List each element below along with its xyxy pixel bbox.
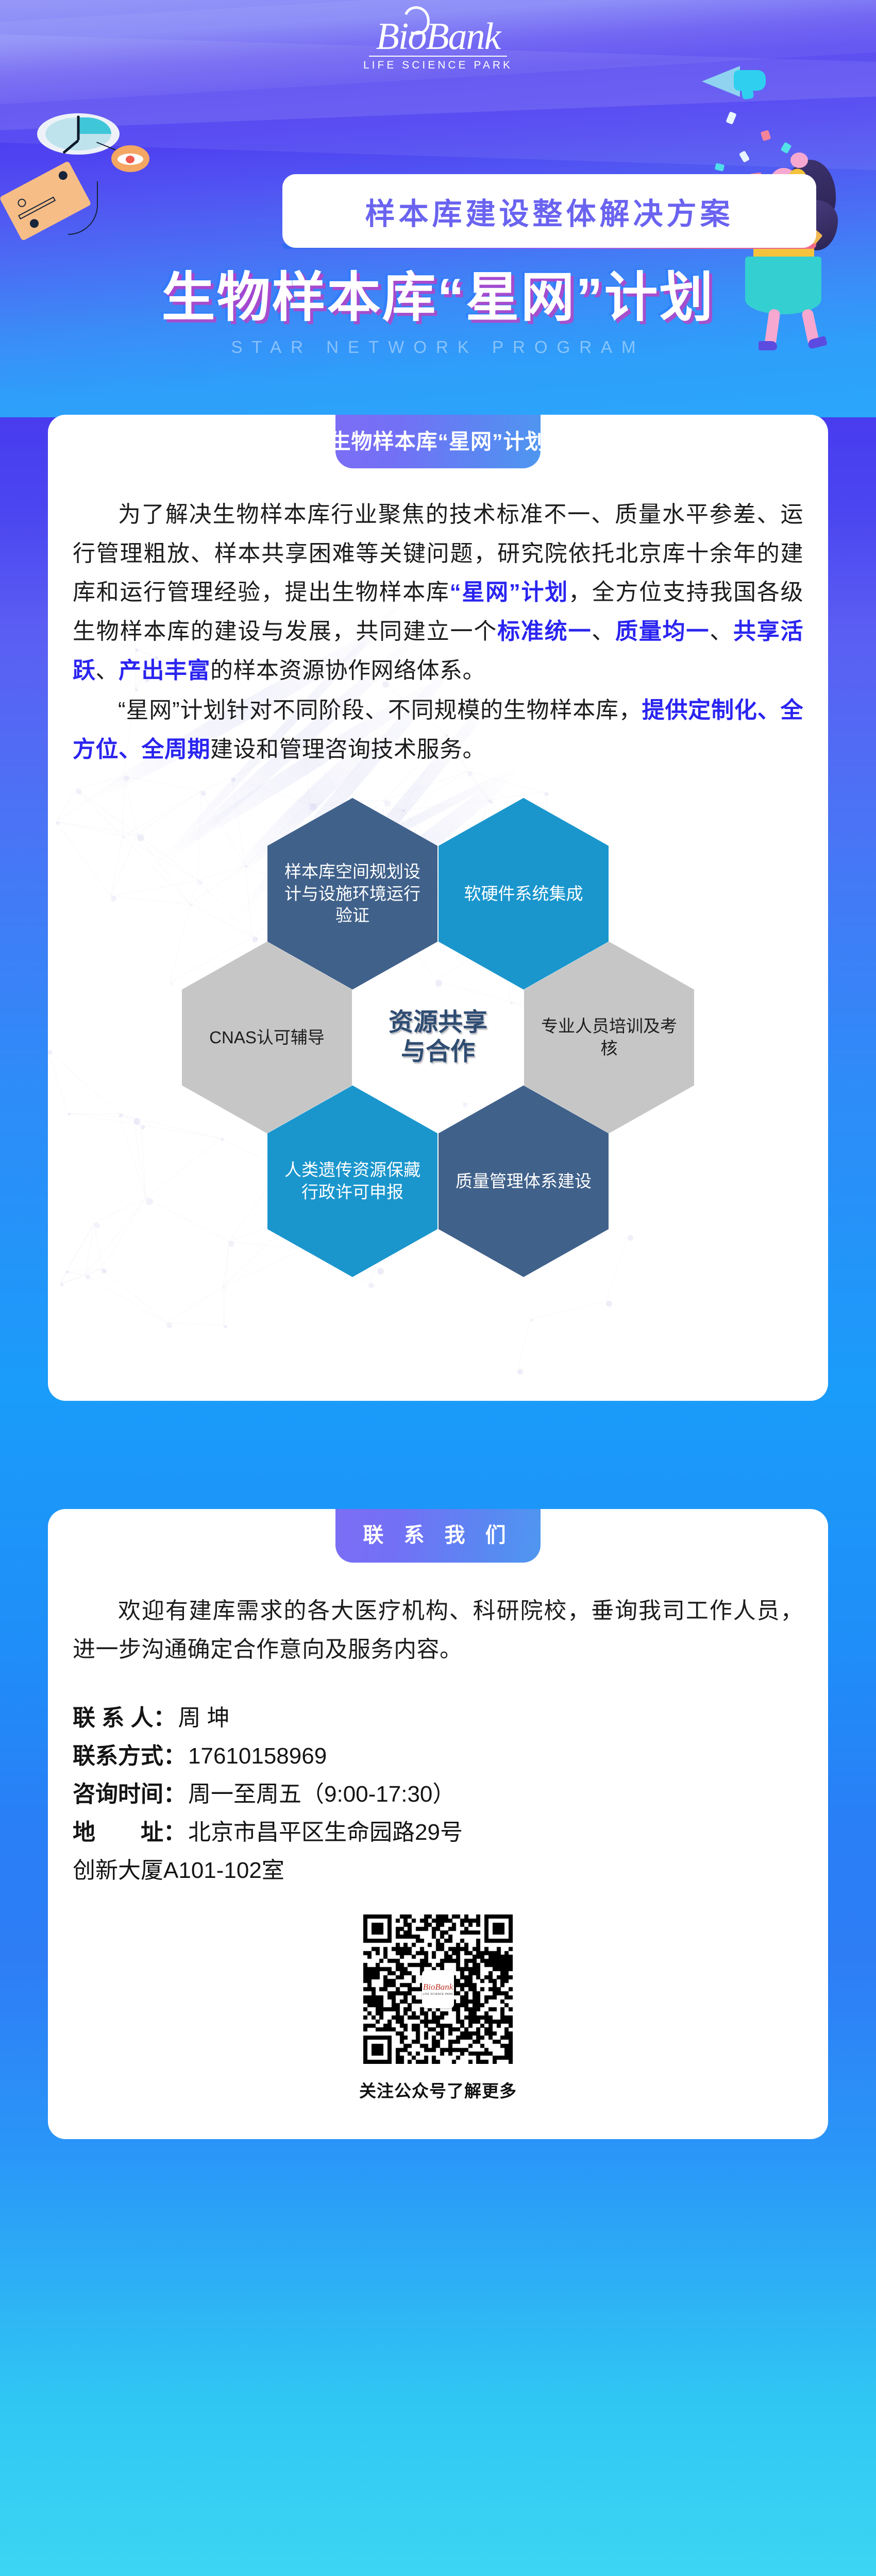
qr-code[interactable]: BioBank LIFE SCIENCE PARK xyxy=(363,1914,513,2064)
hex-item-2-label: 专业人员培训及考核 xyxy=(524,1015,694,1059)
confetti-decoration xyxy=(711,103,845,258)
contact-row-address: 地 址： 北京市昌平区生命园路29号 xyxy=(73,1814,803,1852)
p1-highlight3: 质量均一 xyxy=(615,619,710,644)
p2-part2: 建设和管理咨询技术服务。 xyxy=(210,737,485,762)
p2-part1: “星网”计划针对不同阶段、不同规模的生物样本库， xyxy=(118,698,642,723)
poster-page: BioBank LIFE SCIENCE PARK 样本库建设整体解决方案 生物… xyxy=(0,0,876,2576)
qr-caption: 关注公众号了解更多 xyxy=(48,2077,828,2102)
qr-logo-subtext: LIFE SCIENCE PARK xyxy=(423,1993,453,1996)
hex-item-4-label: 人类遗传资源保藏行政许可申报 xyxy=(267,1159,437,1202)
section-badge-program: 生物样本库“星网”计划 xyxy=(335,415,541,468)
contact-label-phone: 联系方式： xyxy=(73,1737,186,1775)
section-badge-contact: 联 系 我 们 xyxy=(335,1509,541,1563)
p1-part6: 的样本资源协作网络体系。 xyxy=(210,658,485,683)
page-title: 生物样本库“星网”计划 xyxy=(0,253,876,331)
program-paragraph-2: “星网”计划针对不同阶段、不同规模的生物样本库，提供定制化、全方位、全周期建设和… xyxy=(73,691,803,769)
contact-intro-text: 欢迎有建库需求的各大医疗机构、科研院校，垂询我司工作人员，进一步沟通确定合作意向… xyxy=(48,1563,828,1669)
p1-part3b: 、 xyxy=(710,619,733,644)
contact-row-phone: 联系方式： 17610158969 xyxy=(73,1737,803,1775)
contact-label-person: 联 系 人： xyxy=(73,1699,176,1737)
qr-center-logo: BioBank LIFE SCIENCE PARK xyxy=(422,1970,454,2008)
section-card-contact: 联 系 我 们 欢迎有建库需求的各大医疗机构、科研院校，垂询我司工作人员，进一步… xyxy=(48,1509,828,2139)
contact-details: 联 系 人： 周 坤 联系方式： 17610158969 咨询时间： 周一至周五… xyxy=(48,1669,828,1890)
program-body-text: 为了解决生物样本库行业聚焦的技术标准不一、质量水平参差、运行管理粗放、样本共享困… xyxy=(48,468,828,769)
hex-center-text: 资源共享 与合作 xyxy=(389,1008,487,1066)
section-badge-program-label: 生物样本库“星网”计划 xyxy=(330,424,547,455)
contact-value-address-2: 创新大厦A101-102室 xyxy=(73,1852,284,1890)
p1-highlight2: 标准统一 xyxy=(497,619,592,644)
contact-row-person: 联 系 人： 周 坤 xyxy=(73,1699,803,1737)
hero-header: BioBank LIFE SCIENCE PARK 样本库建设整体解决方案 生物… xyxy=(0,0,876,417)
program-paragraph-1: 为了解决生物样本库行业聚焦的技术标准不一、质量水平参差、运行管理粗放、样本共享困… xyxy=(73,495,803,690)
contact-label-hours: 咨询时间： xyxy=(73,1775,186,1814)
hex-center-line-1: 资源共享 xyxy=(389,1009,487,1036)
brand-logo-tagline: LIFE SCIENCE PARK xyxy=(0,59,876,72)
p1-highlight1: “星网”计划 xyxy=(450,580,568,605)
brand-logo: BioBank LIFE SCIENCE PARK xyxy=(0,19,876,72)
brand-logo-wordmark: BioBank xyxy=(376,19,500,55)
clock-icon xyxy=(37,103,120,165)
section-badge-contact-label: 联 系 我 们 xyxy=(363,1518,513,1548)
hex-item-3-label: 质量管理体系建设 xyxy=(442,1171,605,1192)
network-node xyxy=(467,771,473,776)
contact-value-person: 周 坤 xyxy=(178,1699,229,1737)
hex-center-label: 资源共享 与合作 xyxy=(353,942,523,1133)
page-subtitle-en: STAR NETWORK PROGRAM xyxy=(0,337,876,357)
contact-value-hours: 周一至周五（9:00-17:30） xyxy=(188,1775,455,1814)
contact-row-hours: 咨询时间： 周一至周五（9:00-17:30） xyxy=(73,1775,803,1814)
p1-highlight5: 产出丰富 xyxy=(119,658,210,683)
p1-part3: 、 xyxy=(592,619,615,644)
p1-part3c: 、 xyxy=(96,658,119,683)
contact-row-address-2: 创新大厦A101-102室 xyxy=(73,1852,803,1890)
contact-intro-paragraph: 欢迎有建库需求的各大医疗机构、科研院校，垂询我司工作人员，进一步沟通确定合作意向… xyxy=(73,1591,803,1669)
hex-item-0-label: 样本库空间规划设计与设施环境运行验证 xyxy=(267,861,437,926)
qr-logo-text: BioBank xyxy=(423,1982,453,1991)
contact-value-address: 北京市昌平区生命园路29号 xyxy=(188,1814,463,1852)
section-card-program: 生物样本库“星网”计划 为了解决生物样本库行业聚焦的技术标准不一、质量水平参差、… xyxy=(48,415,828,1401)
contact-value-phone[interactable]: 17610158969 xyxy=(188,1737,327,1775)
hex-item-1-label: 软硬件系统集成 xyxy=(451,883,597,905)
brand-logo-text: BioBank xyxy=(376,15,500,58)
hex-diagram: 样本库空间规划设计与设施环境运行验证 软硬件系统集成 专业人员培训及考核 质量管… xyxy=(48,779,828,1377)
contact-label-address: 地 址： xyxy=(73,1814,186,1852)
hex-item-5-label: CNAS认可辅导 xyxy=(196,1027,338,1048)
hex-center-line-2: 与合作 xyxy=(401,1038,475,1065)
page-title-text: 生物样本库“星网”计划 xyxy=(161,268,714,328)
eye-icon xyxy=(111,145,149,172)
qr-block: BioBank LIFE SCIENCE PARK 关注公众号了解更多 xyxy=(48,1890,828,2102)
